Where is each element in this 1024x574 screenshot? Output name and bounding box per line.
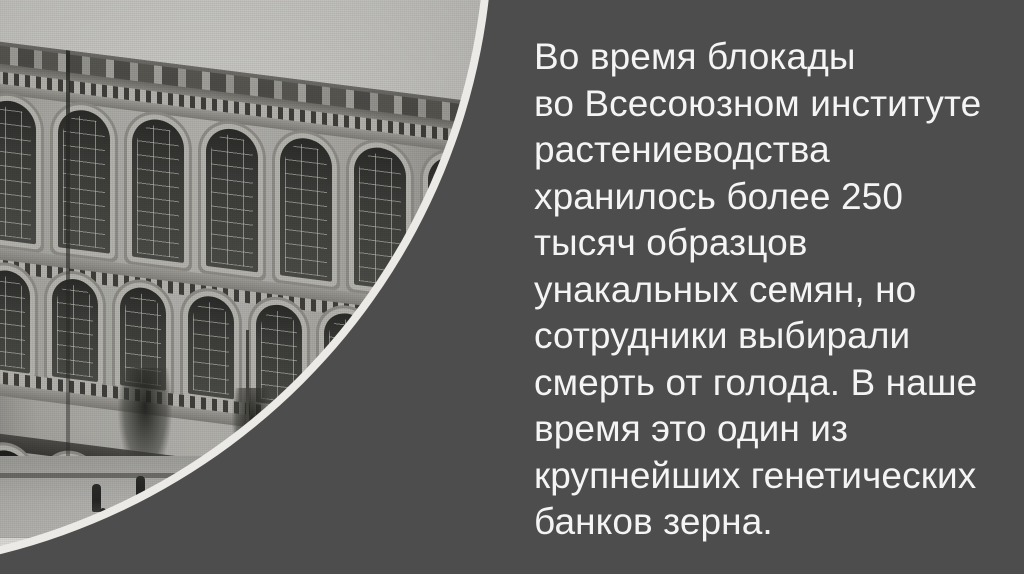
slide-canvas: дание Всесоюзного инсти Во время блокады… <box>0 0 1024 574</box>
slide-body-text: Во время блокады во Всесоюзном институте… <box>534 34 1004 546</box>
